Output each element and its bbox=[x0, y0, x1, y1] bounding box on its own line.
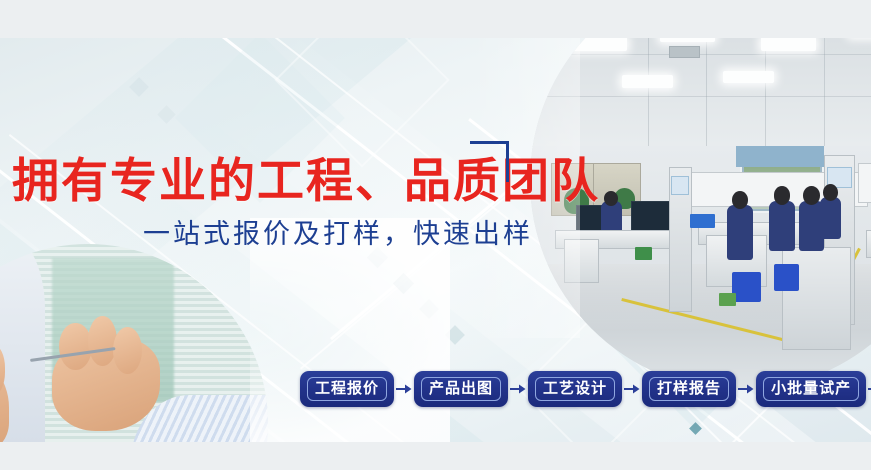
process-step-2-label: 产品出图 bbox=[429, 380, 493, 397]
page-subtitle: 一站式报价及打样，快速出样 bbox=[143, 221, 533, 248]
process-step-1-frame: 工程报价 bbox=[307, 377, 387, 401]
process-step-4-label: 打样报告 bbox=[657, 380, 721, 397]
process-step-3-label: 工艺设计 bbox=[543, 380, 607, 397]
process-step-5-label: 小批量试产 bbox=[771, 380, 851, 397]
business-meeting-photo bbox=[0, 244, 268, 442]
process-step-1-label: 工程报价 bbox=[315, 380, 379, 397]
page-title: 拥有专业的工程、品质团队 bbox=[12, 158, 600, 205]
process-step-5-frame: 小批量试产 bbox=[763, 377, 859, 401]
arrow-right-icon bbox=[736, 376, 756, 402]
arrow-right-icon bbox=[866, 376, 871, 402]
arrow-right-icon bbox=[622, 376, 642, 402]
corner-bracket-icon bbox=[470, 141, 509, 182]
arrow-right-icon bbox=[394, 376, 414, 402]
arrow-right-icon bbox=[508, 376, 528, 402]
process-step-4[interactable]: 打样报告 bbox=[642, 371, 736, 407]
office-workshop-photo bbox=[530, 38, 871, 390]
process-step-4-frame: 打样报告 bbox=[649, 377, 729, 401]
process-step-3-frame: 工艺设计 bbox=[535, 377, 615, 401]
process-step-3[interactable]: 工艺设计 bbox=[528, 371, 622, 407]
banner-page: 拥有专业的工程、品质团队 一站式报价及打样，快速出样 工程报价 产品出图 bbox=[0, 0, 871, 470]
process-flow: 工程报价 产品出图 工艺设计 bbox=[300, 371, 871, 407]
photo-edge-veil-left bbox=[250, 218, 450, 442]
promo-banner: 拥有专业的工程、品质团队 一站式报价及打样，快速出样 工程报价 产品出图 bbox=[0, 38, 871, 442]
process-step-5[interactable]: 小批量试产 bbox=[756, 371, 866, 407]
process-step-2-frame: 产品出图 bbox=[421, 377, 501, 401]
process-step-2[interactable]: 产品出图 bbox=[414, 371, 508, 407]
process-step-1[interactable]: 工程报价 bbox=[300, 371, 394, 407]
